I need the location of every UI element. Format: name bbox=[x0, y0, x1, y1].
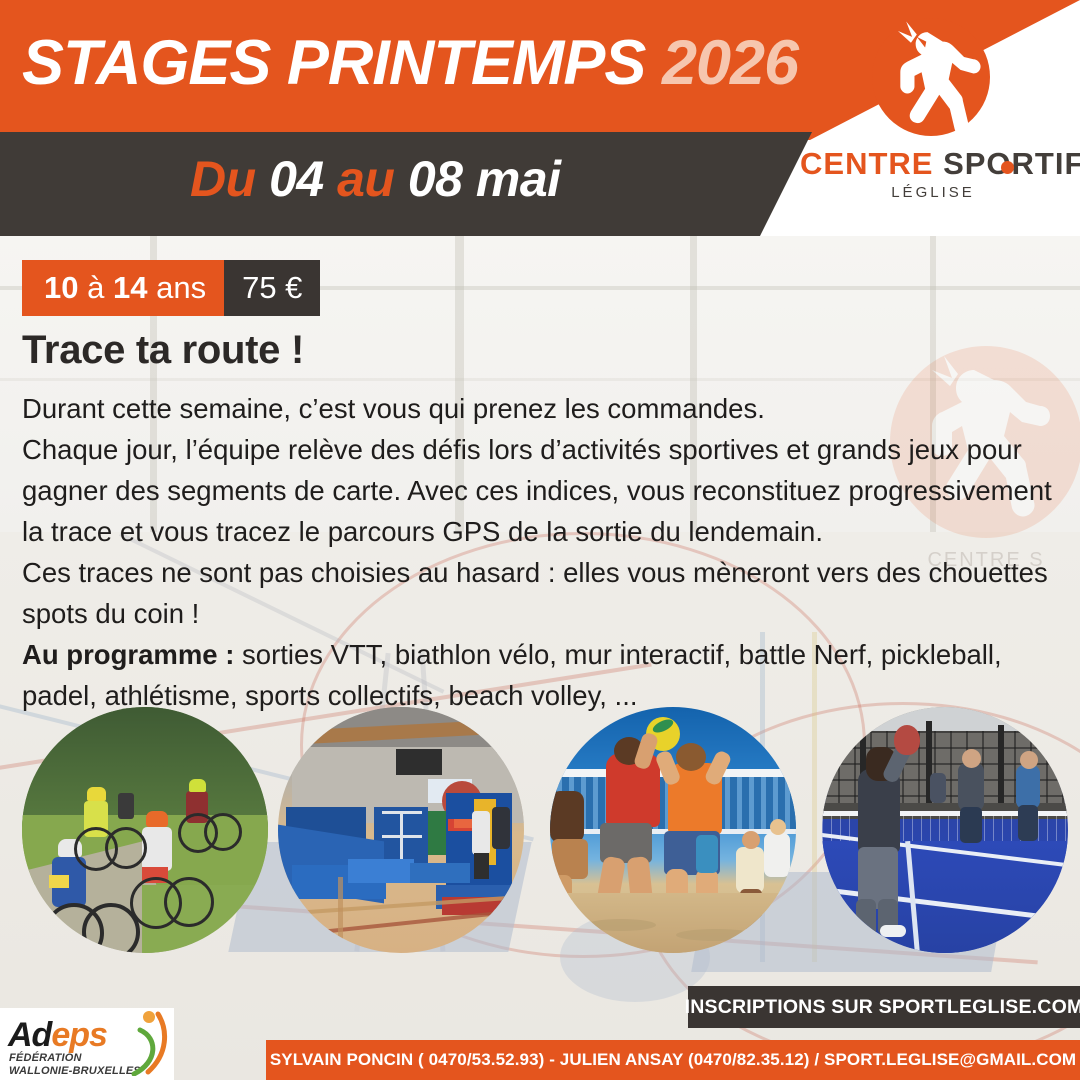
adeps-word-orange: eps bbox=[51, 1016, 107, 1054]
poster-root: CENTRE S STAGES PRINTEMPS 2026 Du 04 au … bbox=[0, 0, 1080, 1080]
date-start: 04 bbox=[269, 151, 324, 207]
content-body: Durant cette semaine, c’est vous qui pre… bbox=[22, 388, 1068, 716]
body-paragraph-3: Ces traces ne sont pas choisies au hasar… bbox=[22, 552, 1068, 634]
centre-sportif-logo: CENTRE SPORTIF LÉGLISE bbox=[800, 18, 1066, 232]
content-headline: Trace ta route ! bbox=[22, 328, 304, 373]
adeps-logo: Adeps FÉDÉRATION WALLONIE-BRUXELLES bbox=[0, 1008, 174, 1080]
age-to: 14 bbox=[113, 270, 147, 306]
body-paragraph-1: Durant cette semaine, c’est vous qui pre… bbox=[22, 388, 1068, 429]
date-range: Du 04 au 08 mai bbox=[190, 150, 561, 208]
poster-header: STAGES PRINTEMPS 2026 Du 04 au 08 mai CE… bbox=[0, 0, 1080, 236]
logo-locality: LÉGLISE bbox=[800, 184, 1066, 201]
title-year: 2026 bbox=[662, 28, 798, 98]
adeps-swoosh-icon bbox=[118, 1010, 174, 1076]
date-prefix: Du bbox=[190, 151, 256, 207]
adeps-word-dark: Ad bbox=[8, 1016, 51, 1054]
body-programme: Au programme : sorties VTT, biathlon vél… bbox=[22, 634, 1068, 716]
photo-padel-image bbox=[822, 707, 1068, 953]
photo-gym bbox=[278, 707, 524, 953]
adeps-wordmark: Adeps bbox=[8, 1016, 107, 1055]
photo-vtt bbox=[22, 707, 268, 953]
photo-gym-image bbox=[278, 707, 524, 953]
date-connector: au bbox=[337, 151, 394, 207]
running-figure-icon bbox=[872, 18, 990, 136]
contact-banner[interactable]: SYLVAIN PONCIN ( 0470/53.52.93) - JULIEN… bbox=[266, 1040, 1080, 1080]
age-range-badge: 10 à 14 ans bbox=[22, 260, 224, 316]
inscriptions-banner[interactable]: INSCRIPTIONS SUR SPORTLEGLISE.COM bbox=[688, 986, 1080, 1028]
page-title: STAGES PRINTEMPS 2026 bbox=[22, 27, 798, 99]
photo-beach-volley bbox=[550, 707, 796, 953]
age-from: 10 bbox=[44, 270, 78, 306]
title-main-text: STAGES PRINTEMPS bbox=[22, 28, 645, 98]
programme-label: Au programme : bbox=[22, 639, 234, 670]
logo-wordmark: CENTRE SPORTIF bbox=[800, 146, 1066, 182]
logo-accent-dot bbox=[1001, 161, 1014, 174]
age-separator: à bbox=[87, 270, 104, 306]
adeps-line-1: FÉDÉRATION bbox=[9, 1052, 82, 1064]
photo-gallery bbox=[0, 705, 1080, 965]
body-paragraph-2: Chaque jour, l’équipe relève des défis l… bbox=[22, 429, 1068, 552]
age-price-badge: 10 à 14 ans 75 € bbox=[22, 260, 320, 316]
age-unit: ans bbox=[156, 270, 206, 306]
price-badge: 75 € bbox=[224, 260, 320, 316]
photo-vtt-image bbox=[22, 707, 268, 953]
photo-padel bbox=[822, 707, 1068, 953]
photo-beach-volley-image bbox=[550, 707, 796, 953]
date-end: 08 mai bbox=[408, 151, 561, 207]
logo-centre-text: CENTRE bbox=[800, 146, 933, 181]
